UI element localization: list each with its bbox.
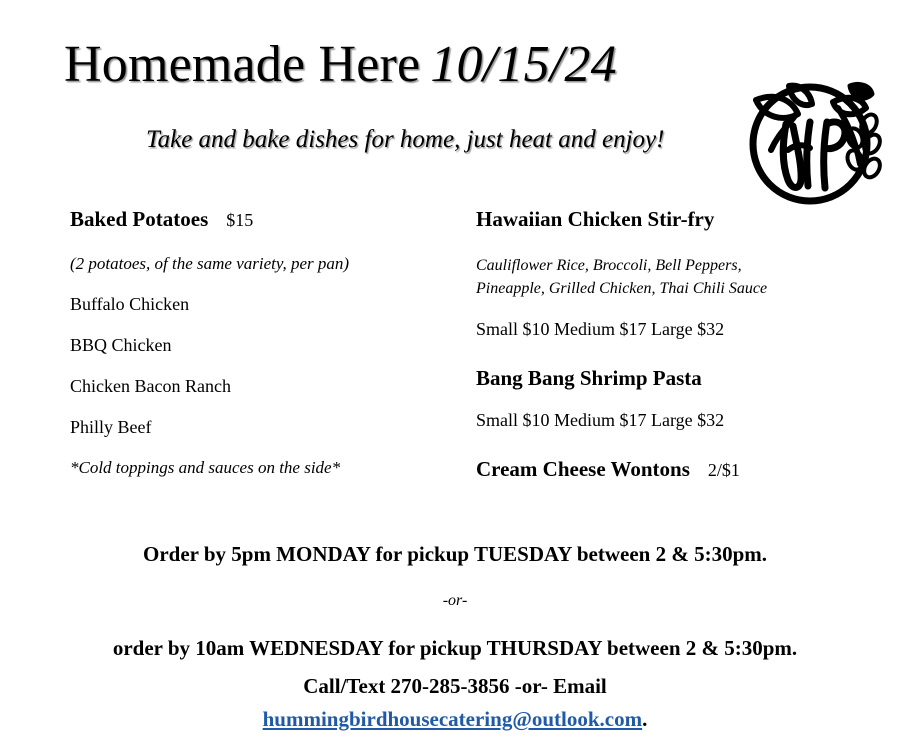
menu-note-potato-count: (2 potatoes, of the same variety, per pa… (70, 253, 450, 275)
contact-info: Call/Text 270-285-3856 -or- Email hummin… (0, 672, 910, 734)
menu-item-name: Bang Bang Shrimp Pasta (476, 366, 702, 390)
ordering-line-wednesday-thursday: order by 10am WEDNESDAY for pickup THURS… (0, 634, 910, 662)
menu-column-right: Hawaiian Chicken Stir-fry Cauliflower Ri… (476, 206, 876, 483)
menu-column-left: Baked Potatoes$15 (2 potatoes, of the sa… (70, 206, 450, 479)
menu-item-description-line1-hawaiian: Cauliflower Rice, Broccoli, Bell Peppers… (476, 254, 876, 277)
contact-email-line: hummingbirdhousecatering@outlook.com. (0, 704, 910, 734)
menu-item-heading-hawaiian-chicken-stir-fry: Hawaiian Chicken Stir-fry (476, 206, 876, 232)
menu-item-pricing-hawaiian: Small $10 Medium $17 Large $32 (476, 318, 876, 341)
menu-item-name: Baked Potatoes (70, 207, 208, 231)
ordering-line-monday-tuesday: Order by 5pm MONDAY for pickup TUESDAY b… (0, 540, 910, 568)
page-title-text: Homemade Here (64, 36, 420, 93)
menu-option-chicken-bacon-ranch: Chicken Bacon Ranch (70, 375, 450, 398)
menu-item-heading-baked-potatoes: Baked Potatoes$15 (70, 206, 450, 233)
contact-phone-line: Call/Text 270-285-3856 -or- Email (0, 672, 910, 700)
menu-item-name: Cream Cheese Wontons (476, 457, 690, 481)
menu-option-philly-beef: Philly Beef (70, 416, 450, 439)
menu-item-price: $15 (208, 210, 253, 230)
ordering-separator: -or- (0, 590, 910, 612)
email-trailing-period: . (642, 707, 647, 731)
menu-item-heading-cream-cheese-wontons: Cream Cheese Wontons2/$1 (476, 456, 876, 483)
email-link[interactable]: hummingbirdhousecatering@outlook.com (263, 707, 642, 731)
flyer-page: Homemade Here10/15/24 Take and bake dish… (0, 0, 910, 745)
menu-option-buffalo-chicken: Buffalo Chicken (70, 293, 450, 316)
menu-item-price: 2/$1 (690, 460, 740, 480)
menu-item-description-line2-hawaiian: Pineapple, Grilled Chicken, Thai Chili S… (476, 277, 876, 300)
menu-item-heading-bang-bang-shrimp-pasta: Bang Bang Shrimp Pasta (476, 365, 876, 391)
menu-item-pricing-bang-bang: Small $10 Medium $17 Large $32 (476, 409, 876, 432)
menu-footnote-cold-toppings: *Cold toppings and sauces on the side* (70, 457, 450, 479)
ordering-instructions: Order by 5pm MONDAY for pickup TUESDAY b… (0, 540, 910, 662)
tagline: Take and bake dishes for home, just heat… (146, 124, 664, 156)
menu-item-name: Hawaiian Chicken Stir-fry (476, 207, 714, 231)
page-title: Homemade Here10/15/24 (64, 36, 617, 94)
brand-logo-icon (738, 64, 893, 214)
page-title-date: 10/15/24 (420, 36, 617, 93)
menu-option-bbq-chicken: BBQ Chicken (70, 334, 450, 357)
